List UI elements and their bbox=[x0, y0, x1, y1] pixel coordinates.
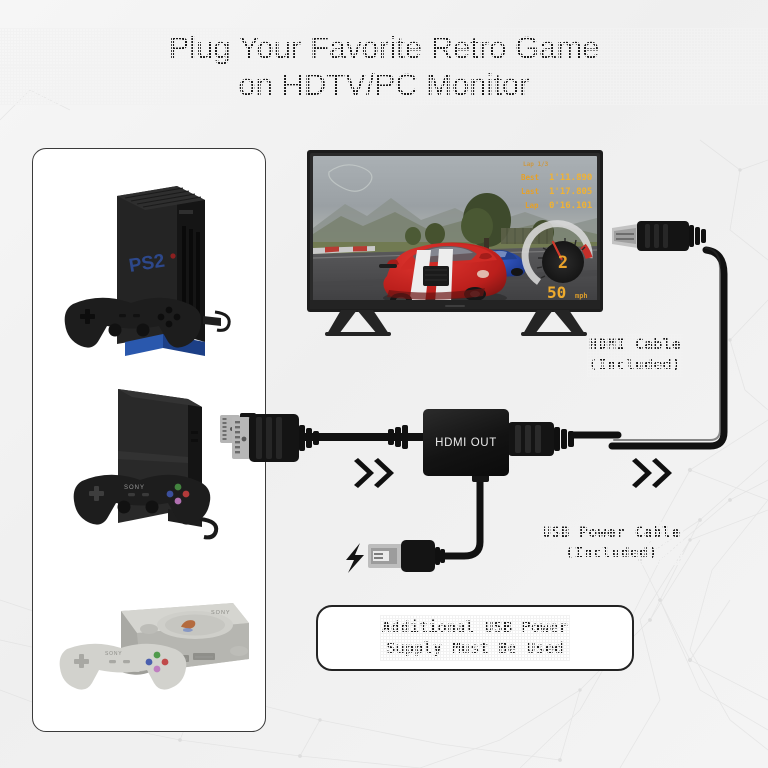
svg-text:Lap: Lap bbox=[525, 201, 539, 210]
svg-text:2: 2 bbox=[558, 253, 568, 273]
ps2-slim-illustration: SONY bbox=[44, 381, 256, 559]
tv-screen-content: Lap 1/3 Best 1'11.890 Last 1'17.805 Lap … bbox=[313, 156, 597, 307]
console-item-ps2-slim: SONY bbox=[33, 377, 266, 563]
infographic-canvas: Plug Your Favorite Retro Game on HDTV/PC… bbox=[0, 0, 768, 768]
svg-text:1'17.805: 1'17.805 bbox=[549, 187, 592, 197]
ps2-fat-illustration: PS2 bbox=[45, 166, 255, 366]
page-title-line-1: Plug Your Favorite Retro Game bbox=[0, 30, 768, 67]
usb-power-cable bbox=[414, 470, 489, 556]
tv-stand bbox=[325, 310, 587, 336]
warning-callout-text: Additional USB Power Supply Must Be Used bbox=[382, 617, 569, 659]
svg-text:Lap 1/3: Lap 1/3 bbox=[523, 161, 549, 168]
svg-text:Last: Last bbox=[521, 187, 539, 196]
warning-callout: Additional USB Power Supply Must Be Used bbox=[316, 605, 634, 671]
hdmi-cable-label: HDMI Cable (Included) bbox=[560, 336, 710, 375]
flow-arrow-right bbox=[630, 458, 674, 488]
hdmi-cable-label-text: HDMI Cable (Included) bbox=[589, 336, 681, 375]
svg-text:SONY: SONY bbox=[211, 610, 231, 616]
page-title-line-2: on HDTV/PC Monitor bbox=[0, 67, 768, 104]
chevron-right-double-icon bbox=[352, 458, 396, 488]
svg-text:Best: Best bbox=[521, 173, 539, 182]
ps1-illustration: SONY bbox=[43, 581, 257, 715]
lightning-bolt-icon bbox=[346, 543, 364, 573]
converter-label: HDMI OUT bbox=[435, 437, 497, 449]
usb-power-cable-label: USB Power Cable (Included) bbox=[514, 524, 709, 563]
svg-text:mph: mph bbox=[575, 292, 588, 300]
svg-text:SONY: SONY bbox=[105, 651, 122, 657]
hdmi-plug bbox=[612, 221, 706, 251]
svg-text:50: 50 bbox=[547, 283, 566, 302]
console-item-ps1: SONY bbox=[33, 573, 266, 723]
svg-text:1'11.890: 1'11.890 bbox=[549, 173, 592, 183]
console-av-cable bbox=[300, 425, 424, 449]
converter-hdmi-head bbox=[508, 422, 618, 456]
usb-a-plug bbox=[368, 540, 445, 572]
usb-power-cable-label-text: USB Power Cable (Included) bbox=[542, 524, 680, 563]
hdtv-monitor: Lap 1/3 Best 1'11.890 Last 1'17.805 Lap … bbox=[305, 150, 605, 340]
tv-illustration: Lap 1/3 Best 1'11.890 Last 1'17.805 Lap … bbox=[305, 150, 605, 340]
svg-text:0'16.101: 0'16.101 bbox=[549, 201, 592, 211]
flow-arrow-left bbox=[352, 458, 396, 488]
ps2-av-multi-out-plug bbox=[220, 413, 256, 445]
console-panel: PS2 bbox=[32, 148, 266, 732]
console-item-ps2-fat: PS2 bbox=[33, 161, 266, 371]
chevron-right-double-icon bbox=[630, 458, 674, 488]
hdmi-converter-box: HDMI OUT bbox=[423, 409, 509, 476]
svg-text:SONY: SONY bbox=[124, 485, 145, 491]
page-title: Plug Your Favorite Retro Game on HDTV/PC… bbox=[0, 30, 768, 103]
